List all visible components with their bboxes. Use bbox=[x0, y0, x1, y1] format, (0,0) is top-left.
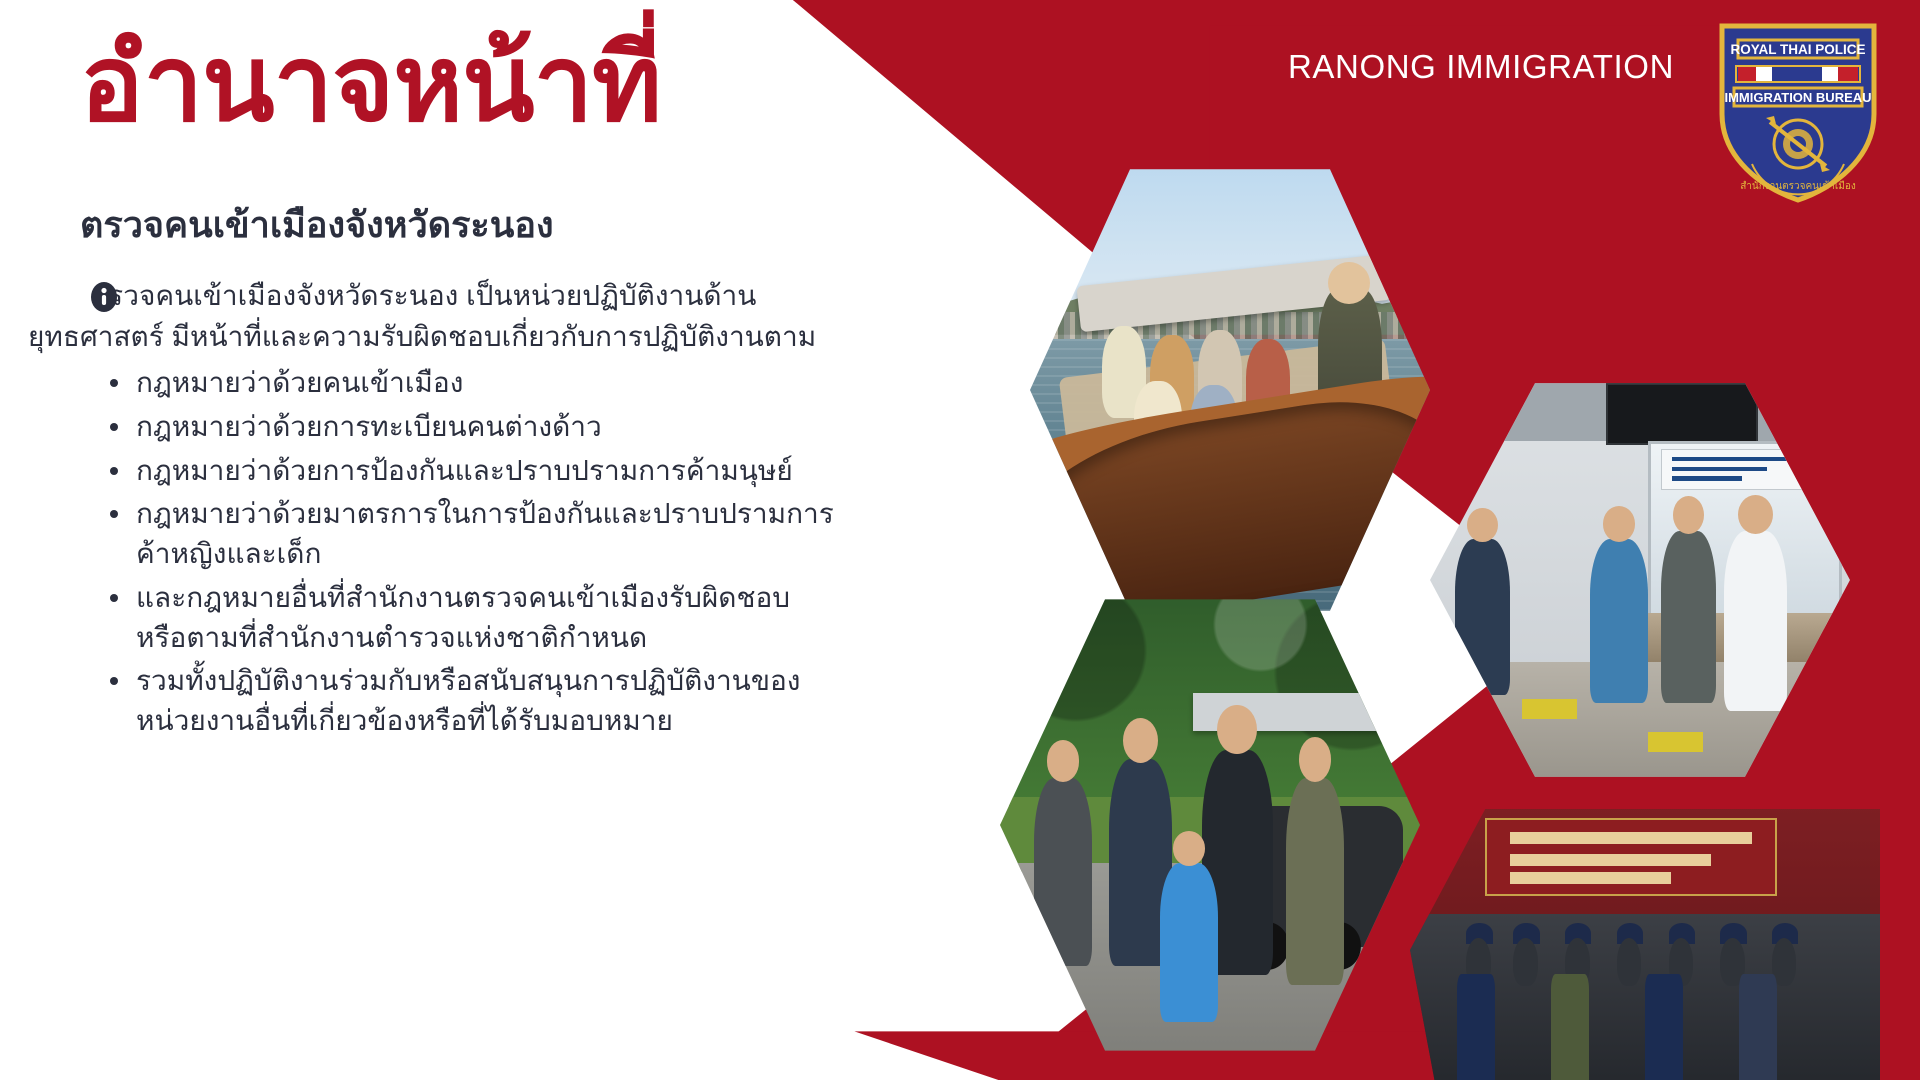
photo-immigration-service-counter bbox=[1430, 375, 1850, 785]
header-label: RANONG IMMIGRATION bbox=[1288, 48, 1674, 86]
slide-canvas: RANONG IMMIGRATION ROYAL THAI POLICE IMM… bbox=[0, 0, 1920, 1080]
svg-text:สำนักงานตรวจคนเข้าเมือง: สำนักงานตรวจคนเข้าเมือง bbox=[1740, 180, 1856, 192]
photo-officers-assembly bbox=[1410, 800, 1880, 1080]
svg-text:IMMIGRATION BUREAU: IMMIGRATION BUREAU bbox=[1724, 90, 1871, 105]
photo-longtail-boat-passengers bbox=[1030, 160, 1430, 620]
royal-thai-police-immigration-badge-icon: ROYAL THAI POLICE IMMIGRATION BUREAU สำน… bbox=[1708, 18, 1888, 206]
photo-collage bbox=[0, 0, 1920, 1080]
svg-text:ROYAL THAI POLICE: ROYAL THAI POLICE bbox=[1730, 42, 1865, 57]
photo-field-operation-motorbike bbox=[1000, 590, 1420, 1060]
